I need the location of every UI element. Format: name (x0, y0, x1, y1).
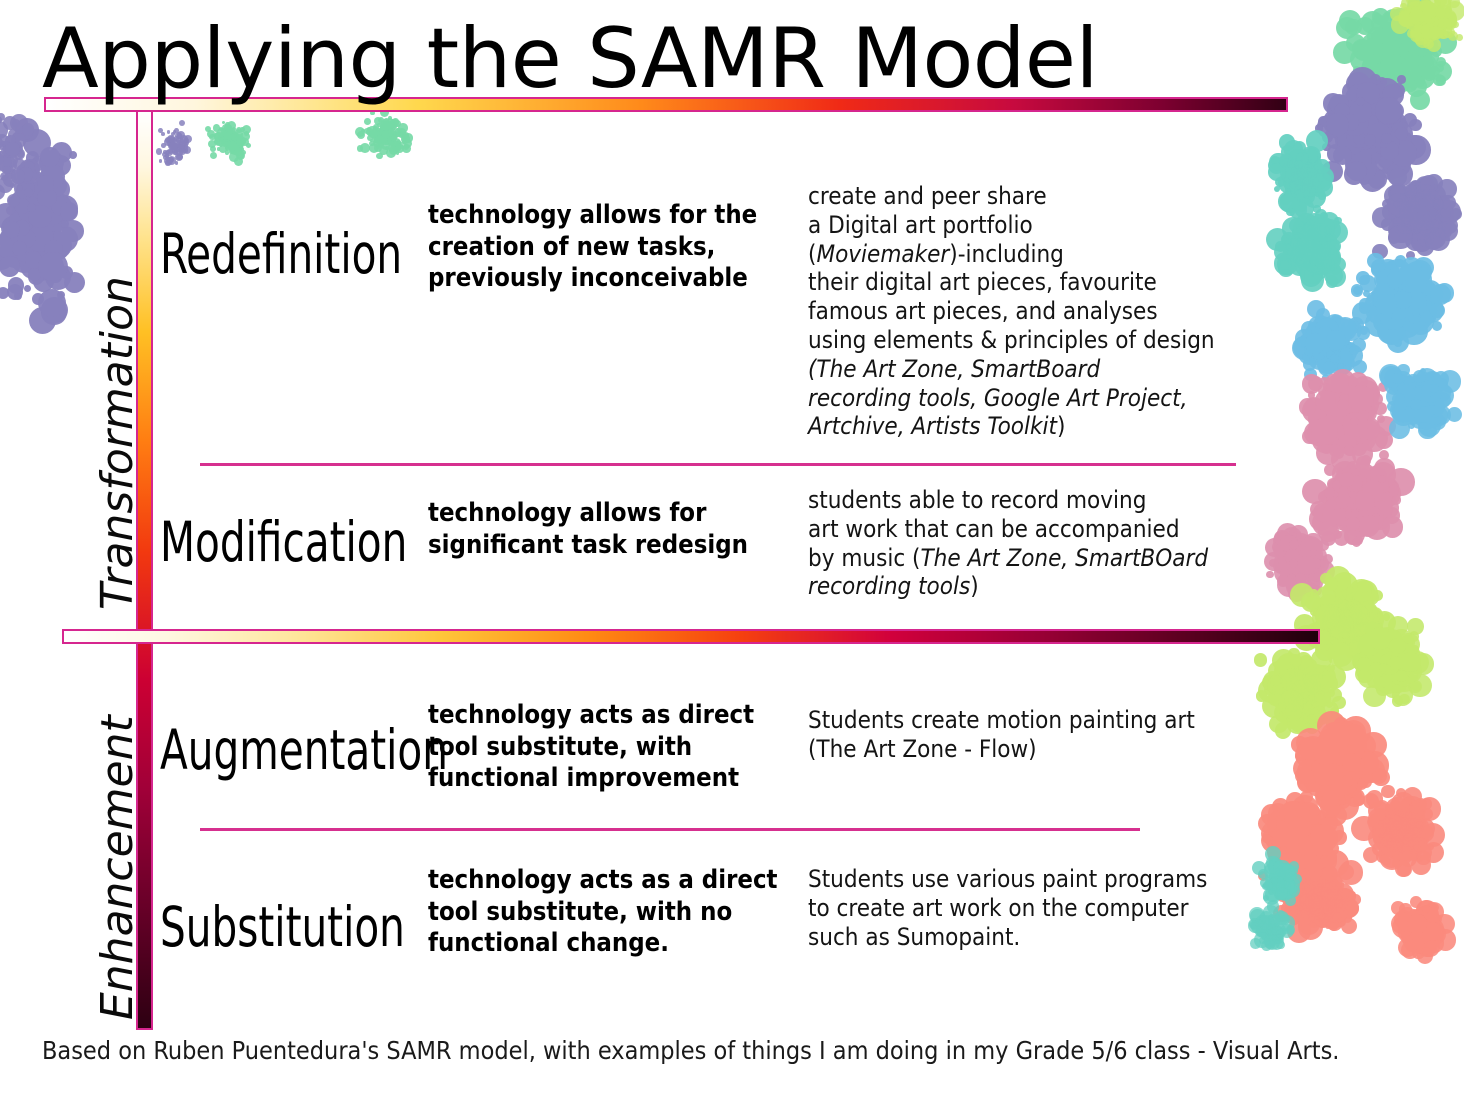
decorative-dot (1325, 403, 1333, 411)
decorative-dot (1363, 135, 1383, 155)
decorative-dot (1410, 41, 1420, 51)
decorative-dot (1350, 616, 1372, 638)
decorative-dot (1409, 215, 1426, 232)
decorative-dot (1325, 777, 1354, 806)
decorative-dot (1396, 280, 1414, 298)
decorative-dot (1372, 290, 1383, 301)
decorative-dot (1432, 208, 1454, 230)
decorative-dot (162, 152, 167, 157)
decorative-dot (46, 193, 71, 218)
decorative-dot (1393, 820, 1403, 830)
decorative-dot (1313, 895, 1328, 910)
decorative-dot (1380, 264, 1400, 284)
decorative-dot (1362, 418, 1380, 436)
decorative-dot (1302, 176, 1314, 188)
decorative-dot (12, 257, 22, 267)
decorative-dot (24, 170, 44, 190)
decorative-dot (1408, 387, 1428, 407)
decorative-dot (233, 146, 238, 151)
decorative-dot (1369, 660, 1381, 672)
decorative-dot (1418, 189, 1441, 212)
decorative-dot (1404, 388, 1416, 400)
decorative-dot (22, 194, 40, 212)
decorative-dot (1376, 628, 1395, 647)
decorative-dot (1338, 797, 1346, 805)
decorative-dot (1326, 113, 1349, 136)
decorative-dot (1372, 36, 1381, 45)
decorative-dot (1296, 820, 1309, 833)
decorative-dot (1409, 270, 1419, 280)
decorative-dot (1414, 277, 1429, 292)
decorative-dot (1393, 820, 1409, 836)
decorative-dot (24, 285, 32, 293)
decorative-dot (1352, 443, 1374, 465)
decorative-dot (1305, 881, 1321, 897)
decorative-dot (1314, 332, 1338, 356)
decorative-dot (1375, 97, 1402, 124)
decorative-dot (1286, 556, 1304, 574)
decorative-dot (1280, 924, 1294, 938)
decorative-dot (1381, 218, 1394, 231)
decorative-dot (1312, 827, 1322, 837)
decorative-dot (1282, 838, 1304, 860)
decorative-dot (1407, 0, 1432, 19)
decorative-dot (1401, 195, 1409, 203)
decorative-dot (1393, 670, 1415, 692)
decorative-dot (1405, 824, 1428, 847)
decorative-dot (10, 231, 34, 255)
decorative-dot (1415, 32, 1431, 48)
decorative-dot (52, 195, 79, 222)
decorative-dot (1305, 170, 1322, 187)
decorative-dot (1315, 854, 1329, 868)
decorative-dot (31, 162, 40, 171)
decorative-dot (1289, 548, 1305, 564)
decorative-dot (1371, 47, 1397, 73)
decorative-dot (1388, 217, 1414, 243)
decorative-dot (1338, 629, 1357, 648)
decorative-dot (1401, 279, 1426, 304)
decorative-dot (1404, 810, 1410, 816)
decorative-dot (1312, 250, 1330, 268)
decorative-dot (1276, 934, 1283, 941)
decorative-dot (1269, 878, 1277, 886)
decorative-dot (1397, 862, 1412, 877)
decorative-dot (1400, 379, 1421, 400)
decorative-dot (1410, 934, 1430, 954)
decorative-dot (1313, 887, 1326, 900)
decorative-dot (1420, 808, 1433, 821)
decorative-dot (1443, 27, 1454, 38)
decorative-dot (1328, 595, 1354, 621)
decorative-dot (1361, 750, 1375, 764)
decorative-dot (1412, 53, 1437, 78)
decorative-dot (1377, 632, 1390, 645)
decorative-dot (1414, 928, 1425, 939)
decorative-dot (1410, 83, 1416, 89)
decorative-dot (1366, 153, 1375, 162)
decorative-dot (1417, 926, 1427, 936)
decorative-dot (1364, 590, 1379, 605)
decorative-dot (222, 130, 232, 140)
decorative-dot (1288, 692, 1301, 705)
decorative-dot (1372, 169, 1385, 182)
decorative-dot (1419, 380, 1442, 403)
decorative-dot (1269, 559, 1277, 567)
decorative-dot (1298, 834, 1313, 849)
decorative-dot (1289, 540, 1299, 550)
decorative-dot (230, 143, 240, 153)
decorative-dot (1410, 811, 1422, 823)
decorative-dot (1378, 66, 1387, 75)
decorative-dot (1429, 73, 1435, 79)
decorative-dot (1267, 922, 1279, 934)
decorative-dot (159, 159, 162, 162)
decorative-dot (1292, 824, 1309, 841)
decorative-dot (1268, 163, 1286, 181)
decorative-dot (1386, 824, 1394, 832)
decorative-dot (1420, 397, 1427, 404)
decorative-dot (1420, 0, 1433, 13)
decorative-dot (1267, 678, 1283, 694)
decorative-dot (1410, 922, 1424, 936)
decorative-dot (1393, 49, 1402, 58)
decorative-dot (1327, 144, 1345, 162)
decorative-dot (1405, 914, 1425, 934)
decorative-dot (1348, 120, 1358, 130)
decorative-dot (1330, 411, 1347, 428)
decorative-dot (1336, 470, 1354, 488)
decorative-dot (1423, 371, 1442, 390)
decorative-dot (40, 202, 57, 219)
decorative-dot (1327, 612, 1354, 639)
decorative-dot (1341, 624, 1361, 644)
decorative-dot (222, 131, 227, 136)
decorative-dot (1323, 608, 1341, 626)
decorative-dot (214, 132, 224, 142)
decorative-dot (183, 140, 189, 146)
decorative-dot (1372, 68, 1388, 84)
decorative-dot (0, 116, 2, 124)
decorative-dot (1269, 868, 1283, 882)
decorative-dot (1379, 74, 1388, 83)
decorative-dot (1303, 896, 1324, 917)
decorative-dot (1333, 530, 1342, 539)
decorative-dot (1313, 348, 1324, 359)
decorative-dot (357, 131, 365, 139)
decorative-dot (1277, 545, 1295, 563)
decorative-dot (1415, 191, 1435, 211)
decorative-dot (41, 300, 67, 326)
decorative-dot (177, 133, 183, 139)
decorative-dot (1391, 62, 1399, 70)
decorative-dot (1409, 9, 1425, 25)
decorative-dot (1324, 756, 1332, 764)
decorative-dot (1395, 860, 1411, 876)
decorative-dot (222, 121, 225, 124)
decorative-dot (1388, 115, 1395, 122)
decorative-dot (1419, 922, 1439, 942)
decorative-dot (175, 143, 182, 150)
decorative-dot (1352, 428, 1359, 435)
decorative-dot (1403, 402, 1411, 410)
decorative-dot (1315, 390, 1336, 411)
decorative-dot (1324, 435, 1333, 444)
decorative-dot (1409, 209, 1432, 232)
decorative-dot (1262, 675, 1277, 690)
decorative-dot (1290, 675, 1314, 699)
decorative-dot (1376, 59, 1389, 72)
decorative-dot (1402, 397, 1415, 410)
decorative-dot (1299, 686, 1315, 702)
decorative-dot (1301, 592, 1321, 612)
decorative-dot (230, 145, 240, 155)
decorative-dot (1391, 63, 1412, 84)
decorative-dot (1271, 877, 1278, 884)
decorative-dot (1269, 935, 1284, 950)
decorative-dot (1301, 887, 1322, 908)
decorative-dot (1341, 918, 1357, 934)
decorative-dot (1327, 604, 1350, 627)
decorative-dot (1281, 876, 1294, 889)
decorative-dot (1301, 834, 1327, 860)
decorative-dot (1331, 434, 1345, 448)
decorative-dot (1332, 428, 1350, 446)
decorative-dot (1314, 234, 1327, 247)
decorative-dot (1355, 491, 1366, 502)
decorative-dot (1342, 82, 1361, 101)
decorative-dot (1381, 136, 1390, 145)
decorative-dot (46, 256, 55, 265)
decorative-dot (1261, 828, 1286, 853)
decorative-dot (1336, 330, 1344, 338)
decorative-dot (1277, 653, 1300, 676)
decorative-dot (1380, 278, 1403, 301)
decorative-dot (1357, 512, 1381, 536)
decorative-dot (1417, 278, 1429, 290)
decorative-dot (17, 239, 47, 269)
decorative-dot (1342, 775, 1354, 787)
decorative-dot (1298, 831, 1314, 847)
decorative-dot (1438, 11, 1456, 29)
decorative-dot (1330, 430, 1345, 445)
decorative-dot (1294, 678, 1318, 702)
decorative-dot (1324, 337, 1343, 356)
decorative-dot (1285, 869, 1297, 881)
decorative-dot (1267, 923, 1280, 936)
decorative-dot (6, 206, 16, 216)
decorative-dot (1276, 820, 1294, 838)
decorative-dot (224, 135, 233, 144)
decorative-dot (1334, 888, 1355, 909)
decorative-dot (226, 126, 232, 132)
decorative-dot (1318, 770, 1330, 782)
decorative-dot (1330, 416, 1345, 431)
decorative-dot (1309, 665, 1332, 688)
decorative-dot (1303, 763, 1332, 792)
decorative-dot (1364, 629, 1382, 647)
decorative-dot (379, 134, 383, 138)
decorative-dot (11, 229, 20, 238)
decorative-dot (1300, 224, 1321, 245)
decorative-dot (13, 172, 21, 180)
decorative-dot (1360, 622, 1372, 634)
decorative-dot (242, 140, 246, 144)
decorative-dot (1261, 933, 1268, 940)
decorative-dot (1377, 123, 1403, 149)
decorative-dot (1287, 697, 1305, 715)
decorative-dot (1424, 71, 1432, 79)
decorative-dot (1358, 504, 1382, 528)
decorative-dot (376, 153, 383, 160)
decorative-dot (13, 195, 43, 225)
decorative-dot (1334, 616, 1346, 628)
decorative-dot (1294, 842, 1304, 852)
decorative-dot (1419, 214, 1427, 222)
decorative-dot (1361, 751, 1389, 779)
decorative-dot (1345, 611, 1362, 628)
decorative-dot (1266, 921, 1271, 926)
decorative-dot (1325, 411, 1344, 430)
decorative-dot (10, 183, 15, 188)
decorative-dot (1410, 824, 1423, 837)
decorative-dot (1431, 12, 1439, 20)
decorative-dot (1337, 744, 1353, 760)
decorative-dot (1383, 613, 1390, 620)
decorative-dot (232, 135, 238, 141)
decorative-dot (1424, 200, 1438, 214)
decorative-dot (32, 192, 51, 211)
decorative-dot (1330, 431, 1343, 444)
decorative-dot (1374, 800, 1390, 816)
decorative-dot (1398, 265, 1417, 284)
decorative-dot (1358, 666, 1379, 687)
decorative-dot (1317, 891, 1329, 903)
decorative-dot (1340, 613, 1354, 627)
decorative-dot (1280, 193, 1299, 212)
decorative-dot (1317, 244, 1339, 266)
decorative-dot (1429, 24, 1444, 39)
decorative-dot (387, 133, 396, 142)
decorative-dot (1394, 376, 1415, 397)
decorative-dot (1275, 887, 1288, 900)
decorative-dot (1304, 183, 1312, 191)
decorative-dot (1413, 58, 1421, 66)
decorative-dot (1400, 306, 1425, 331)
decorative-dot (388, 116, 392, 120)
decorative-dot (1353, 472, 1381, 500)
decorative-dot (1341, 720, 1366, 745)
decorative-dot (1399, 903, 1411, 915)
decorative-dot (1295, 573, 1306, 584)
decorative-dot (1306, 162, 1322, 178)
decorative-dot (1296, 896, 1309, 909)
decorative-dot (1353, 399, 1368, 414)
decorative-dot (226, 139, 236, 149)
decorative-dot (1391, 807, 1411, 827)
decorative-dot (1431, 61, 1452, 82)
decorative-dot (378, 142, 384, 148)
decorative-dot (1332, 355, 1345, 368)
decorative-dot (1375, 285, 1386, 296)
decorative-dot (1286, 909, 1302, 925)
decorative-dot (1416, 396, 1432, 412)
decorative-dot (1405, 297, 1420, 312)
decorative-dot (1363, 494, 1380, 511)
decorative-dot (51, 142, 72, 163)
decorative-dot (1305, 682, 1313, 690)
decorative-dot (50, 155, 71, 176)
decorative-dot (1374, 103, 1392, 121)
decorative-dot (1290, 826, 1299, 835)
decorative-dot (1375, 52, 1397, 74)
decorative-dot (1282, 217, 1304, 239)
decorative-dot (1313, 832, 1325, 844)
decorative-dot (1317, 889, 1324, 896)
decorative-dot (1370, 74, 1381, 85)
decorative-dot (1314, 256, 1322, 264)
decorative-dot (1367, 500, 1391, 524)
decorative-dot (1425, 932, 1436, 943)
decorative-dot (1272, 798, 1289, 815)
decorative-dot (1376, 835, 1392, 851)
decorative-dot (227, 140, 235, 148)
decorative-dot (1354, 380, 1381, 407)
decorative-dot (1389, 117, 1408, 136)
decorative-dot (49, 271, 61, 283)
decorative-dot (1331, 883, 1354, 906)
decorative-dot (1371, 15, 1388, 32)
decorative-dot (1320, 317, 1335, 332)
decorative-dot (1427, 393, 1442, 408)
decorative-dot (1354, 153, 1367, 166)
decorative-dot (1410, 90, 1430, 110)
decorative-dot (1387, 37, 1402, 52)
decorative-dot (1417, 237, 1428, 248)
decorative-dot (1311, 700, 1319, 708)
decorative-dot (37, 227, 65, 255)
decorative-dot (1416, 307, 1426, 317)
decorative-dot (1327, 403, 1345, 421)
decorative-dot (1286, 683, 1301, 698)
decorative-dot (1405, 280, 1422, 297)
decorative-dot (1293, 170, 1309, 186)
decorative-dot (1348, 502, 1367, 521)
decorative-dot (1325, 337, 1340, 352)
decorative-dot (34, 198, 58, 222)
decorative-dot (1312, 892, 1323, 903)
decorative-dot (2, 142, 7, 147)
decorative-dot (1357, 638, 1378, 659)
decorative-dot (1367, 295, 1374, 302)
decorative-dot (1339, 486, 1348, 495)
decorative-dot (1294, 552, 1309, 567)
decorative-dot (1402, 827, 1427, 852)
decorative-dot (210, 152, 217, 159)
decorative-dot (1394, 808, 1417, 831)
decorative-dot (1298, 680, 1309, 691)
decorative-dot (1301, 666, 1319, 684)
decorative-dot (1294, 563, 1309, 578)
decorative-dot (1287, 874, 1295, 882)
decorative-dot (1359, 649, 1374, 664)
decorative-dot (1376, 850, 1389, 863)
decorative-dot (1269, 848, 1293, 872)
decorative-dot (1320, 253, 1335, 268)
decorative-dot (1358, 612, 1379, 633)
decorative-dot (166, 157, 173, 164)
decorative-dot (1427, 228, 1438, 239)
